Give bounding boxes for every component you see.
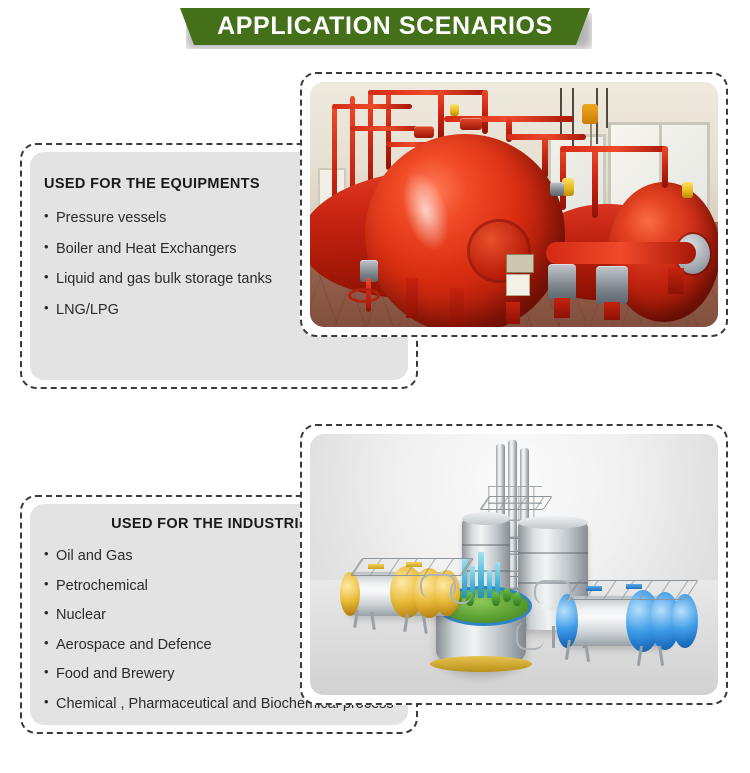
pipe	[350, 126, 422, 131]
nozzle	[460, 118, 482, 130]
pump-valve	[596, 266, 628, 304]
page-title: APPLICATION SCENARIOS	[180, 8, 590, 45]
silo-band	[462, 544, 510, 546]
tank-band	[368, 564, 384, 569]
pedestal	[668, 268, 684, 294]
header-banner: APPLICATION SCENARIOS	[0, 0, 750, 62]
tank-band	[406, 562, 422, 567]
connecting-pipe	[516, 622, 544, 650]
nameplate	[506, 254, 534, 273]
vessel-saddle	[406, 278, 418, 318]
silo-band	[518, 552, 588, 554]
pipe	[592, 146, 598, 218]
refinery-scene	[310, 434, 718, 695]
support-leg	[552, 626, 555, 648]
pedestal	[554, 298, 570, 318]
cable	[560, 88, 562, 136]
valve-icon	[450, 104, 459, 116]
tree-icon	[492, 592, 500, 606]
mini-building	[487, 570, 492, 598]
nozzle	[414, 126, 434, 138]
pump-valve	[548, 264, 576, 300]
pedestal	[604, 302, 620, 320]
tree-icon	[513, 592, 521, 606]
pipe	[662, 146, 668, 188]
header-pipe	[546, 242, 696, 264]
pipe	[560, 146, 668, 152]
vessel-saddle	[450, 288, 464, 324]
platform-grid	[479, 496, 552, 510]
pipe	[332, 104, 412, 109]
mini-building	[478, 552, 484, 598]
vessel-saddle	[506, 302, 520, 324]
connecting-pipe	[450, 580, 472, 604]
tank-band	[626, 584, 642, 589]
pipe	[438, 90, 444, 142]
tank-band	[586, 586, 602, 591]
red-pressure-vessels-photo	[310, 82, 718, 327]
pipe	[482, 90, 488, 134]
pipe	[368, 90, 488, 95]
pressure-vessel-head	[365, 134, 565, 327]
drum-base-ring	[430, 656, 532, 672]
tank-end-cap	[672, 594, 698, 648]
pressure-vessel-scene	[310, 82, 718, 327]
handwheel-icon	[348, 288, 380, 303]
refinery-3d-render	[310, 434, 718, 695]
tree-icon	[503, 588, 511, 602]
nameplate	[506, 274, 530, 296]
cable	[606, 88, 608, 128]
valve-icon	[682, 182, 693, 198]
valve-icon	[550, 182, 564, 196]
connecting-pipe	[534, 580, 572, 604]
hoist-hook-icon	[582, 104, 598, 124]
